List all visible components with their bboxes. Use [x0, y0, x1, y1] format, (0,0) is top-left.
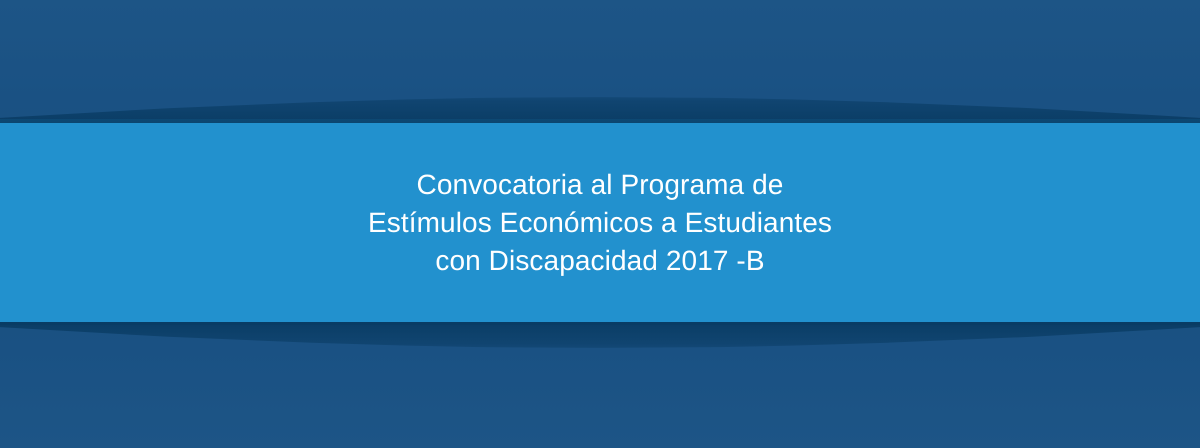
title-line-2: Estímulos Económicos a Estudiantes — [368, 204, 832, 242]
title-line-1: Convocatoria al Programa de — [368, 166, 832, 204]
title-line-3: con Discapacidad 2017 -B — [368, 242, 832, 280]
convocatoria-banner: Convocatoria al Programa de Estímulos Ec… — [0, 0, 1200, 448]
title-strip: Convocatoria al Programa de Estímulos Ec… — [0, 123, 1200, 322]
page-title: Convocatoria al Programa de Estímulos Ec… — [368, 166, 832, 280]
